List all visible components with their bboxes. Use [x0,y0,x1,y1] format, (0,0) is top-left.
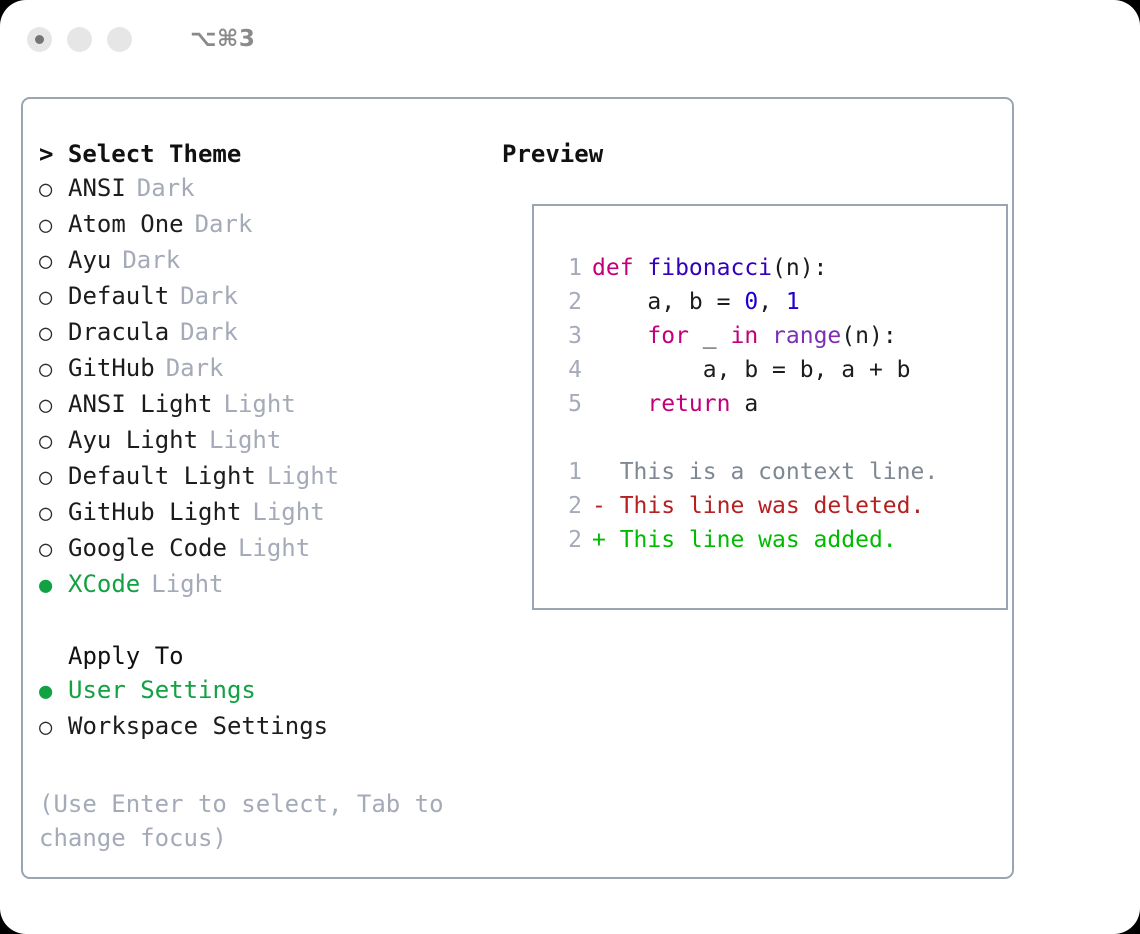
code-token: a [730,391,758,417]
code-token: a, b = [592,289,744,315]
radio-unselected-icon: ○ [39,353,68,387]
main-panel: > Select Theme ○ANSIDark○Atom OneDark○Ay… [21,97,1014,879]
line-number: 3 [552,319,582,353]
code-line-text: for _ in range(n): [582,319,897,353]
theme-option-label: ANSI [68,171,126,205]
radio-unselected-icon: ○ [39,389,68,423]
radio-unselected-icon: ○ [39,711,68,745]
theme-option-label: GitHub [68,351,155,385]
theme-option-label: Atom One [68,207,184,241]
radio-selected-icon: ● [39,569,68,603]
theme-option-default[interactable]: ○DefaultDark [39,279,499,315]
radio-selected-icon: ● [39,675,68,709]
radio-unselected-icon: ○ [39,173,68,207]
theme-option-label: Google Code [68,531,227,565]
code-token [592,323,647,349]
theme-option-kind: Light [252,495,324,529]
code-line: 4 a, b = b, a + b [552,353,1006,387]
radio-unselected-icon: ○ [39,317,68,351]
theme-option-github[interactable]: ○GitHubDark [39,351,499,387]
theme-option-kind: Light [209,423,281,457]
radio-unselected-icon: ○ [39,533,68,567]
code-token: def [592,255,647,281]
code-line: 2 a, b = 0, 1 [552,285,1006,319]
radio-unselected-icon: ○ [39,245,68,279]
code-line-text: def fibonacci(n): [582,251,827,285]
theme-option-label: Default [68,279,169,313]
code-token: fibonacci [647,255,772,281]
radio-unselected-icon: ○ [39,281,68,315]
code-token: return [647,391,730,417]
apply-to-option-user-settings[interactable]: ●User Settings [39,673,499,709]
active-dot-indicator-icon [35,35,44,44]
theme-option-ayu[interactable]: ○AyuDark [39,243,499,279]
theme-option-ansi[interactable]: ○ANSIDark [39,171,499,207]
radio-unselected-icon: ○ [39,497,68,531]
theme-option-label: GitHub Light [68,495,241,529]
line-number: 1 [552,455,582,489]
code-token: range [772,323,841,349]
apply-to-block: Apply To ●User Settings○Workspace Settin… [39,639,499,745]
radio-unselected-icon: ○ [39,209,68,243]
code-diff-separator [552,421,1006,455]
preview-heading: Preview [502,137,1002,171]
code-line: 3 for _ in range(n): [552,319,1006,353]
theme-option-github-light[interactable]: ○GitHub LightLight [39,495,499,531]
code-line-text: a, b = b, a + b [582,353,911,387]
line-number: 2 [552,489,582,523]
select-theme-heading: > Select Theme [39,137,499,171]
theme-option-google-code[interactable]: ○Google CodeLight [39,531,499,567]
theme-option-kind: Dark [180,279,238,313]
titlebar: ⌥⌘3 [0,0,1140,78]
theme-option-default-light[interactable]: ○Default LightLight [39,459,499,495]
diff-line: 2- This line was deleted. [552,489,1006,523]
code-token [592,391,647,417]
code-token: 0 [744,289,758,315]
apply-to-option-label: Workspace Settings [68,709,328,743]
diff-line: 1 This is a context line. [552,455,1006,489]
code-token: for [647,323,689,349]
theme-option-label: Dracula [68,315,169,349]
diff-line-text: - This line was deleted. [582,489,924,523]
code-token: (n): [841,323,896,349]
code-token: in [730,323,758,349]
theme-option-kind: Light [224,387,296,421]
theme-option-label: Default Light [68,459,256,493]
theme-option-xcode[interactable]: ●XCodeLight [39,567,499,603]
preview-box: 1def fibonacci(n):2 a, b = 0, 13 for _ i… [532,204,1008,610]
app-window: ⌥⌘3 > Select Theme ○ANSIDark○Atom OneDar… [0,0,1140,934]
code-preview-area: 1def fibonacci(n):2 a, b = 0, 13 for _ i… [534,206,1006,557]
line-number: 5 [552,387,582,421]
traffic-light-dot-3[interactable] [107,27,132,52]
theme-option-label: Ayu [68,243,111,277]
keyboard-hint-text: (Use Enter to select, Tab to change focu… [39,787,449,855]
code-line-text: a, b = 0, 1 [582,285,800,319]
code-token [758,323,772,349]
line-number: 4 [552,353,582,387]
theme-option-kind: Dark [137,171,195,205]
diff-line: 2+ This line was added. [552,523,1006,557]
line-number: 2 [552,285,582,319]
preview-column: Preview 1def fibonacci(n):2 a, b = 0, 13… [502,137,1002,171]
line-number: 1 [552,251,582,285]
code-token: 1 [786,289,800,315]
radio-unselected-icon: ○ [39,425,68,459]
theme-option-atom-one[interactable]: ○Atom OneDark [39,207,499,243]
code-token: , [758,289,786,315]
theme-option-ansi-light[interactable]: ○ANSI LightLight [39,387,499,423]
theme-option-kind: Dark [166,351,224,385]
diff-line-text: This is a context line. [582,455,938,489]
theme-option-kind: Dark [195,207,253,241]
theme-selector-column: > Select Theme ○ANSIDark○Atom OneDark○Ay… [39,137,499,855]
theme-option-dracula[interactable]: ○DraculaDark [39,315,499,351]
diff-line-text: + This line was added. [582,523,897,557]
traffic-light-dot-2[interactable] [67,27,92,52]
theme-option-kind: Dark [122,243,180,277]
theme-option-kind: Dark [180,315,238,349]
code-line: 5 return a [552,387,1006,421]
theme-option-kind: Light [267,459,339,493]
code-token: (n): [772,255,827,281]
line-number: 2 [552,523,582,557]
theme-option-ayu-light[interactable]: ○Ayu LightLight [39,423,499,459]
apply-to-option-label: User Settings [68,673,256,707]
theme-list: ○ANSIDark○Atom OneDark○AyuDark○DefaultDa… [39,171,499,603]
keyboard-shortcut-label: ⌥⌘3 [190,26,255,52]
traffic-light-dot-active[interactable] [27,27,52,52]
apply-to-list: ●User Settings○Workspace Settings [39,673,499,745]
theme-option-label: XCode [68,567,140,601]
radio-unselected-icon: ○ [39,461,68,495]
code-token: a, b = b, a + b [592,357,911,383]
code-line: 1def fibonacci(n): [552,251,1006,285]
theme-option-kind: Light [238,531,310,565]
code-token: _ [689,323,731,349]
theme-option-label: ANSI Light [68,387,213,421]
code-line-text: return a [582,387,758,421]
theme-option-label: Ayu Light [68,423,198,457]
apply-to-option-workspace-settings[interactable]: ○Workspace Settings [39,709,499,745]
theme-option-kind: Light [151,567,223,601]
apply-to-heading: Apply To [39,639,499,673]
